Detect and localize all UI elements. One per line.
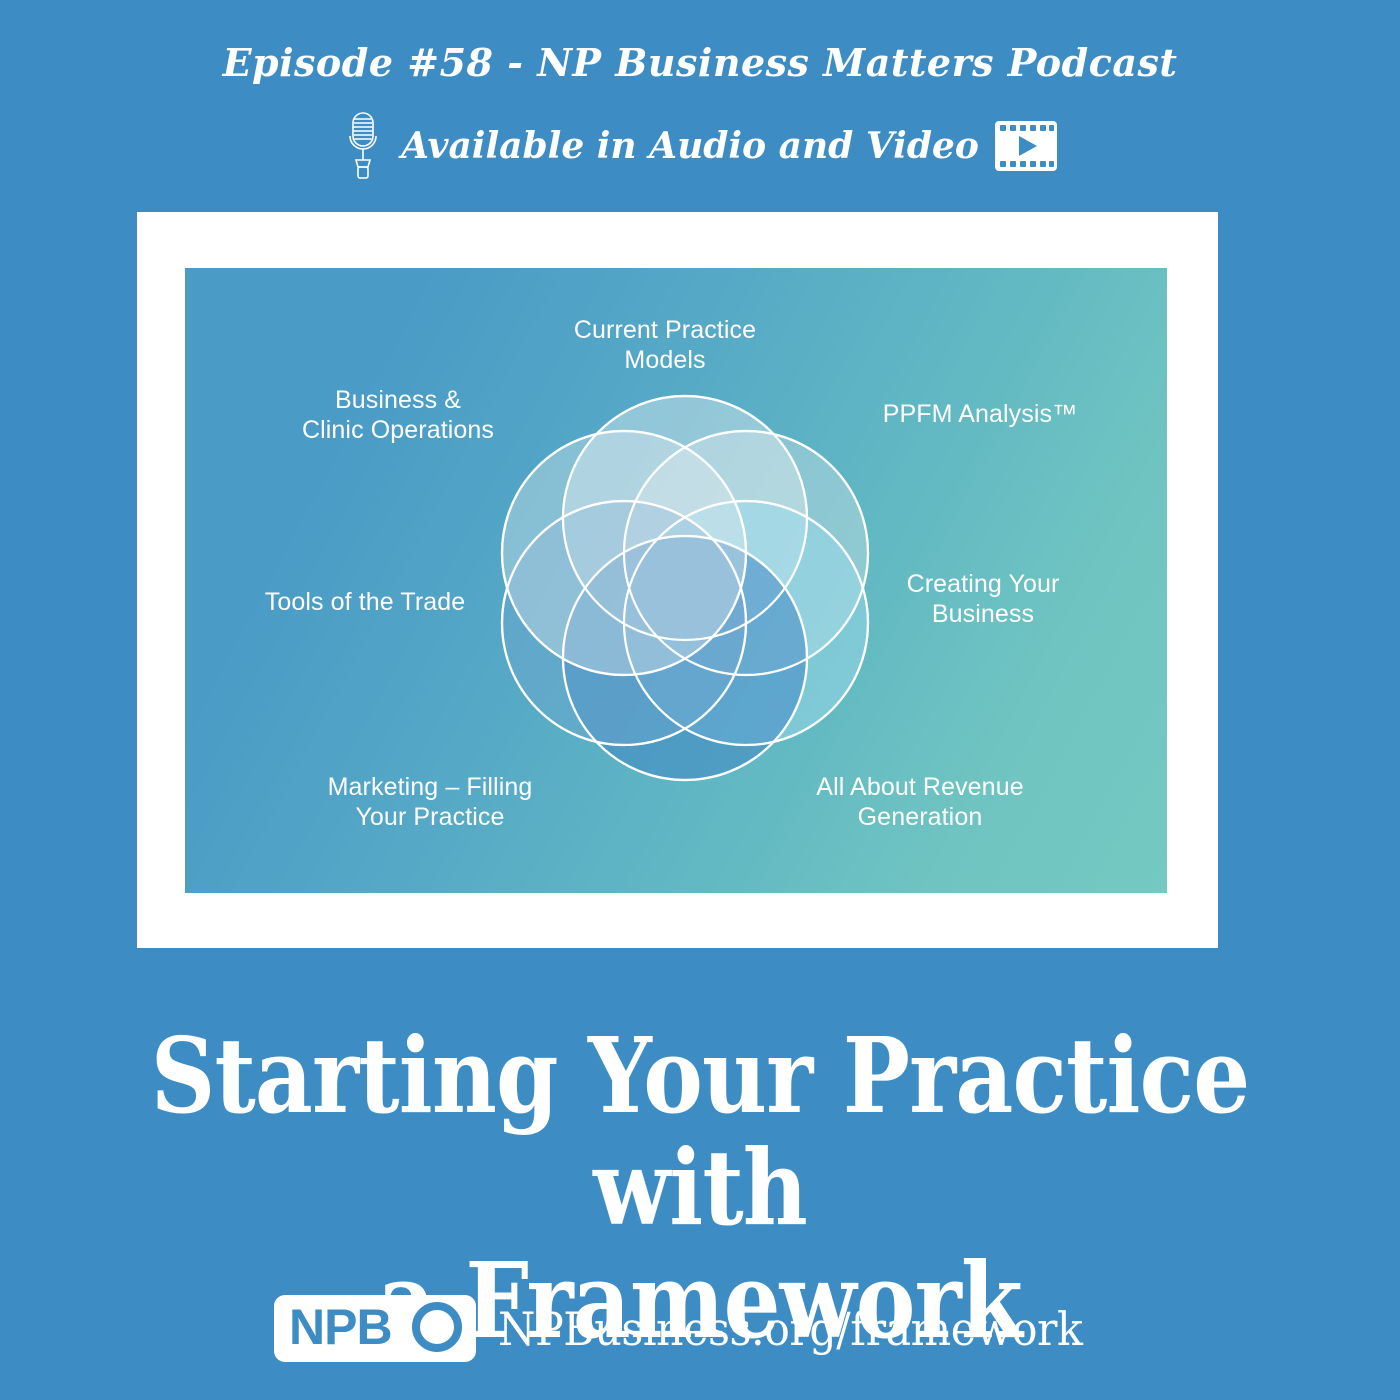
- venn-label-marketing-filling: Marketing – Filling Your Practice: [260, 773, 600, 832]
- episode-title: Episode #58 - NP Business Matters Podcas…: [0, 40, 1400, 85]
- venn-label-current-practice-models: Current Practice Models: [515, 316, 815, 375]
- venn-label-tools-of-the-trade: Tools of the Trade: [200, 588, 530, 618]
- venn-label-ppfm-analysis: PPFM Analysis™: [830, 400, 1130, 430]
- npbo-logo: NPB: [274, 1295, 476, 1362]
- slide-frame: .vc { stroke: #ffffff; stroke-width: 2.2…: [137, 212, 1218, 948]
- availability-text: Available in Audio and Video: [401, 125, 979, 167]
- svg-text:NPB: NPB: [289, 1300, 392, 1355]
- footer-bar: NPB NPBusiness.org/framework: [0, 1295, 1400, 1362]
- venn-label-business-clinic-operations: Business & Clinic Operations: [233, 386, 563, 445]
- venn-label-revenue-generation: All About Revenue Generation: [750, 773, 1090, 832]
- venn-label-creating-your-business: Creating Your Business: [853, 570, 1113, 629]
- film-play-icon: [995, 121, 1057, 171]
- header-banner: Episode #58 - NP Business Matters Podcas…: [0, 0, 1400, 200]
- slide-canvas: .vc { stroke: #ffffff; stroke-width: 2.2…: [185, 268, 1167, 893]
- microphone-icon: [343, 110, 385, 182]
- availability-row: Available in Audio and Video: [0, 110, 1400, 182]
- website-url[interactable]: NPBusiness.org/framework: [498, 1302, 1082, 1356]
